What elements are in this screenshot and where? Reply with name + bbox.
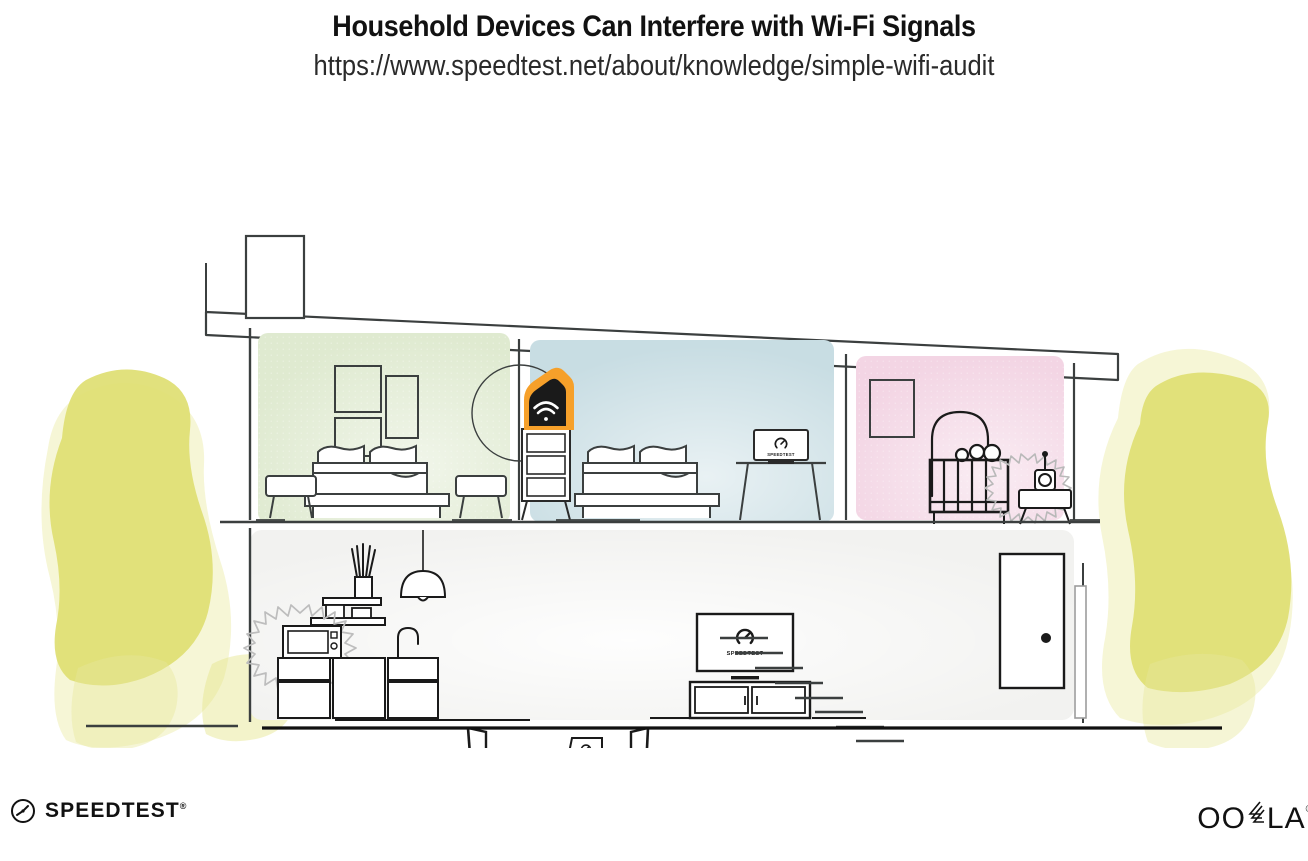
television-speedtest: SPEEDTEST (697, 614, 793, 679)
door-knob (1041, 633, 1051, 643)
svg-text:SPEEDTEST: SPEEDTEST (767, 452, 795, 457)
dining-chair-left (468, 728, 503, 748)
ookla-wordmark: OO K LA ® (1197, 802, 1308, 836)
footer: SPEEDTEST® OO K LA ® (0, 788, 1308, 848)
speedtest-wordmark: SPEEDTEST® (45, 799, 186, 823)
kitchen-counter (278, 658, 438, 718)
tree-left (41, 369, 231, 748)
speedtest-logo[interactable]: SPEEDTEST® (10, 798, 186, 824)
front-door (1000, 554, 1064, 688)
chimney (246, 236, 304, 318)
wall-shelf-upper (323, 598, 381, 605)
dining-chair-right (615, 728, 650, 748)
laptop-speedtest: SPEEDTEST (556, 738, 608, 748)
ookla-wordmark-la: LA (1267, 802, 1306, 836)
monitor-speedtest: SPEEDTEST (754, 430, 808, 464)
exterior-post (1075, 563, 1086, 723)
page-root: Household Devices Can Interfere with Wi-… (0, 0, 1308, 861)
ookla-k-mark: K (1246, 802, 1267, 836)
tree-right (1098, 349, 1292, 748)
ookla-logo[interactable]: OO K LA ® (1197, 802, 1308, 836)
header: Household Devices Can Interfere with Wi-… (0, 0, 1308, 84)
speedtest-trademark: ® (180, 801, 187, 811)
lower-level: SPEEDTEST (244, 528, 1074, 748)
source-url: https://www.speedtest.net/about/knowledg… (78, 49, 1229, 84)
ookla-chevron-icon (1246, 800, 1268, 832)
page-title: Household Devices Can Interfere with Wi-… (65, 9, 1242, 45)
ookla-wordmark-oo: OO (1197, 802, 1246, 836)
room-bedroom-blue: SPEEDTEST (472, 340, 834, 522)
media-console (690, 682, 810, 718)
speedtest-gauge-icon (10, 798, 36, 824)
room-nursery-pink (856, 356, 1100, 524)
microwave (283, 626, 341, 658)
speedtest-wordmark-text: SPEEDTEST (45, 799, 180, 822)
room-bedroom-green (256, 333, 512, 523)
house-illustration: SPEEDTEST (0, 108, 1308, 748)
